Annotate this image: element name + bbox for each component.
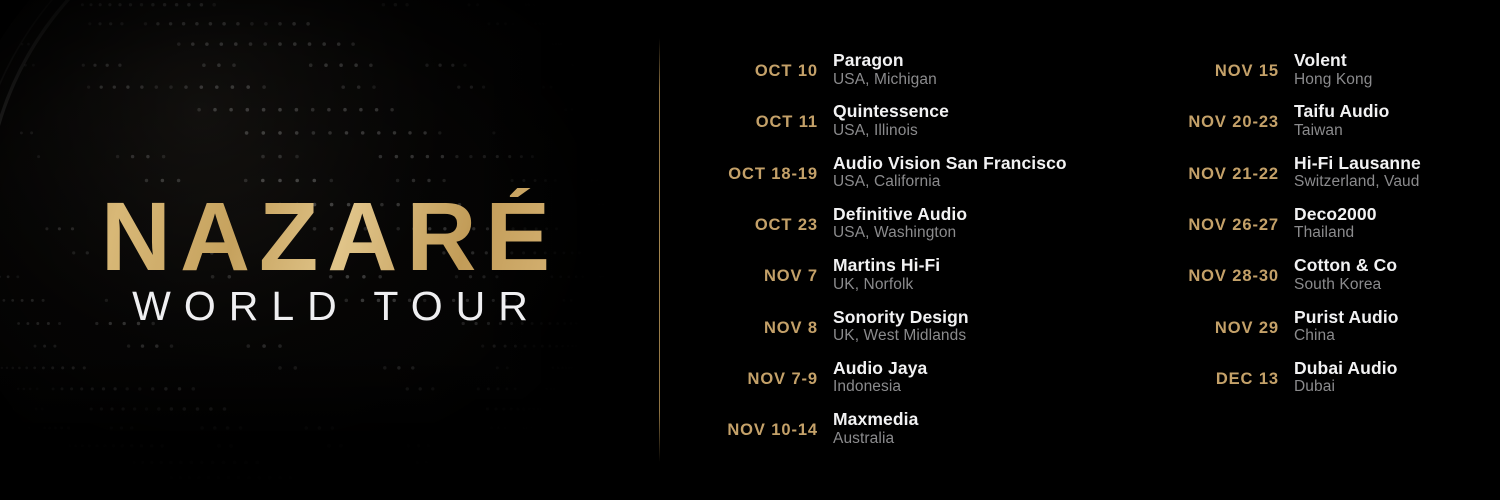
tour-date: OCT 10 — [708, 51, 818, 80]
tour-date: NOV 26-27 — [1170, 205, 1279, 234]
brand-title: NAZARÉ — [0, 188, 660, 285]
tour-date-row[interactable]: NOV 29Purist AudioChina — [1170, 308, 1500, 352]
tour-date-row[interactable]: NOV 21-22Hi-Fi LausanneSwitzerland, Vaud — [1170, 154, 1500, 198]
tour-venue-location: South Korea — [1294, 276, 1500, 295]
tour-venue-name: Cotton & Co — [1294, 256, 1500, 275]
tour-venue-name: Definitive Audio — [833, 205, 1178, 224]
tour-venue-info: Cotton & CoSouth Korea — [1279, 256, 1500, 294]
tour-venue-name: Purist Audio — [1294, 308, 1500, 327]
brand-subtitle: WORLD TOUR — [0, 286, 660, 327]
tour-dates-section: OCT 10ParagonUSA, MichiganOCT 11Quintess… — [660, 0, 1500, 500]
tour-venue-name: Deco2000 — [1294, 205, 1500, 224]
brand-lockup: NAZARÉ WORLD TOUR — [0, 0, 660, 500]
tour-date: NOV 28-30 — [1170, 256, 1279, 285]
tour-venue-info: Audio Vision San FranciscoUSA, Californi… — [818, 154, 1178, 192]
tour-venue-info: MaxmediaAustralia — [818, 410, 1178, 448]
tour-date: DEC 13 — [1170, 359, 1279, 388]
tour-venue-info: Hi-Fi LausanneSwitzerland, Vaud — [1279, 154, 1500, 192]
tour-venue-name: Sonority Design — [833, 308, 1178, 327]
tour-venue-location: China — [1294, 327, 1500, 346]
tour-venue-location: Indonesia — [833, 378, 1178, 397]
tour-venue-location: Taiwan — [1294, 122, 1500, 141]
tour-date: NOV 15 — [1170, 51, 1279, 80]
tour-venue-location: USA, Illinois — [833, 122, 1178, 141]
tour-date: NOV 20-23 — [1170, 102, 1279, 131]
tour-venue-location: USA, Michigan — [833, 71, 1178, 90]
tour-venue-location: Australia — [833, 430, 1178, 449]
tour-venue-name: Volent — [1294, 51, 1500, 70]
tour-venue-info: Martins Hi-FiUK, Norfolk — [818, 256, 1178, 294]
tour-venue-location: USA, Washington — [833, 224, 1178, 243]
tour-date: OCT 11 — [708, 102, 818, 131]
tour-venue-info: Purist AudioChina — [1279, 308, 1500, 346]
tour-date: OCT 23 — [708, 205, 818, 234]
tour-venue-info: Dubai AudioDubai — [1279, 359, 1500, 397]
tour-venue-location: UK, West Midlands — [833, 327, 1178, 346]
tour-venue-info: QuintessenceUSA, Illinois — [818, 102, 1178, 140]
tour-date-row[interactable]: NOV 8Sonority DesignUK, West Midlands — [708, 308, 1178, 352]
tour-venue-location: Dubai — [1294, 378, 1500, 397]
tour-date-row[interactable]: NOV 7-9Audio JayaIndonesia — [708, 359, 1178, 403]
tour-venue-location: Switzerland, Vaud — [1294, 173, 1500, 192]
tour-venue-info: Taifu AudioTaiwan — [1279, 102, 1500, 140]
tour-venue-name: Dubai Audio — [1294, 359, 1500, 378]
tour-venue-name: Martins Hi-Fi — [833, 256, 1178, 275]
tour-date: NOV 21-22 — [1170, 154, 1279, 183]
tour-venue-location: USA, California — [833, 173, 1178, 192]
tour-date-row[interactable]: OCT 18-19Audio Vision San FranciscoUSA, … — [708, 154, 1178, 198]
tour-venue-location: Hong Kong — [1294, 71, 1500, 90]
tour-venue-name: Audio Vision San Francisco — [833, 154, 1178, 173]
tour-date-row[interactable]: NOV 28-30Cotton & CoSouth Korea — [1170, 256, 1500, 300]
tour-date: NOV 7 — [708, 256, 818, 285]
tour-venue-info: Definitive AudioUSA, Washington — [818, 205, 1178, 243]
hero-panel: NAZARÉ WORLD TOUR — [0, 0, 660, 500]
tour-date-row[interactable]: NOV 10-14MaxmediaAustralia — [708, 410, 1178, 454]
tour-date-row[interactable]: OCT 11QuintessenceUSA, Illinois — [708, 102, 1178, 146]
tour-venue-name: Paragon — [833, 51, 1178, 70]
tour-date-row[interactable]: DEC 13Dubai AudioDubai — [1170, 359, 1500, 403]
tour-date: NOV 8 — [708, 308, 818, 337]
tour-date-row[interactable]: NOV 15VolentHong Kong — [1170, 51, 1500, 95]
tour-date: NOV 7-9 — [708, 359, 818, 388]
tour-venue-name: Audio Jaya — [833, 359, 1178, 378]
tour-venue-info: Sonority DesignUK, West Midlands — [818, 308, 1178, 346]
tour-venue-info: Deco2000Thailand — [1279, 205, 1500, 243]
tour-date-row[interactable]: NOV 26-27Deco2000Thailand — [1170, 205, 1500, 249]
tour-banner: NAZARÉ WORLD TOUR OCT 10ParagonUSA, Mich… — [0, 0, 1500, 500]
tour-venue-location: UK, Norfolk — [833, 276, 1178, 295]
tour-date-row[interactable]: OCT 10ParagonUSA, Michigan — [708, 51, 1178, 95]
tour-date: OCT 18-19 — [708, 154, 818, 183]
tour-date: NOV 29 — [1170, 308, 1279, 337]
tour-venue-name: Taifu Audio — [1294, 102, 1500, 121]
tour-venue-name: Hi-Fi Lausanne — [1294, 154, 1500, 173]
tour-venue-info: VolentHong Kong — [1279, 51, 1500, 89]
tour-venue-name: Quintessence — [833, 102, 1178, 121]
tour-venue-name: Maxmedia — [833, 410, 1178, 429]
tour-venue-info: ParagonUSA, Michigan — [818, 51, 1178, 89]
tour-date-row[interactable]: OCT 23Definitive AudioUSA, Washington — [708, 205, 1178, 249]
tour-date-row[interactable]: NOV 7Martins Hi-FiUK, Norfolk — [708, 256, 1178, 300]
tour-venue-info: Audio JayaIndonesia — [818, 359, 1178, 397]
tour-date-row[interactable]: NOV 20-23Taifu AudioTaiwan — [1170, 102, 1500, 146]
tour-venue-location: Thailand — [1294, 224, 1500, 243]
tour-date: NOV 10-14 — [708, 410, 818, 439]
